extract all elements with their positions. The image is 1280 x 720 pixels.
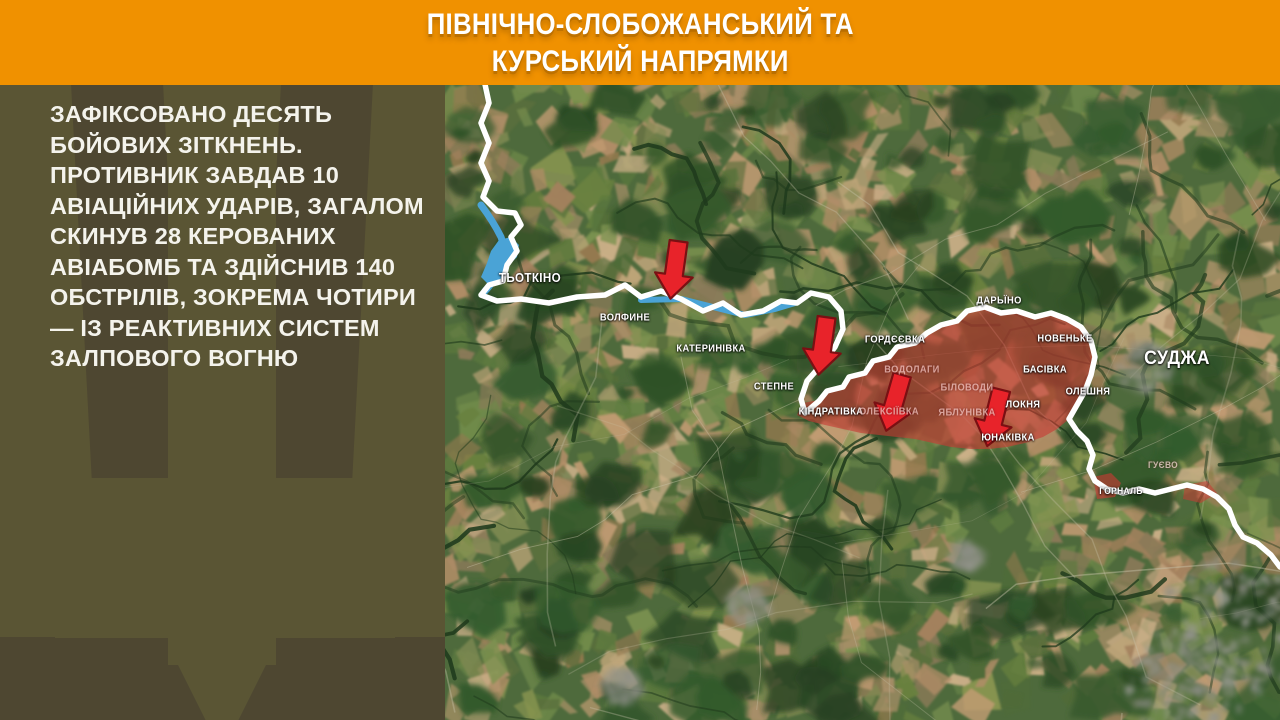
map-label-18: ГОРНАЛЬ <box>1099 486 1142 496</box>
map-label-15: ЯБЛУНІВКА <box>938 408 995 419</box>
trident-notch-right <box>270 478 395 638</box>
map-label-12: ВОДОЛАГИ <box>884 365 939 376</box>
report-panel: ЗАФІКСОВАНО ДЕСЯТЬ БОЙОВИХ ЗІТКНЕНЬ. ПРО… <box>0 85 445 720</box>
map-label-14: ОЛЕКСІЇВКА <box>859 407 919 418</box>
page-title: ПІВНІЧНО-СЛОБОЖАНСЬКИЙ ТА КУРСЬКИЙ НАПРЯ… <box>427 6 854 80</box>
map-label-2: КАТЕРИНІВКА <box>676 344 745 355</box>
arrow-kindrativka <box>800 315 846 378</box>
map-label-10: ЛОКНЯ <box>1006 400 1041 411</box>
header-banner: ПІВНІЧНО-СЛОБОЖАНСЬКИЙ ТА КУРСЬКИЙ НАПРЯ… <box>0 0 1280 85</box>
state-border-line <box>481 85 1280 567</box>
map-label-17: ГУЄВО <box>1148 460 1178 470</box>
map-label-7: НОВЕНЬКЕ <box>1037 334 1092 345</box>
map-label-13: БІЛОВОДИ <box>941 383 994 394</box>
infographic-root: ПІВНІЧНО-СЛОБОЖАНСЬКИЙ ТА КУРСЬКИЙ НАПРЯ… <box>0 0 1280 720</box>
map-label-11: ЮНАКІВКА <box>981 433 1034 444</box>
map-label-3: СТЕПНЕ <box>754 382 794 393</box>
map-label-6: ДАРЬЇНО <box>976 296 1021 307</box>
map-label-9: ОЛЕШНЯ <box>1066 387 1111 398</box>
map-label-16: СУДЖА <box>1144 348 1210 370</box>
trident-notch-left <box>55 478 175 638</box>
map-overlays <box>445 85 1280 720</box>
map-label-8: БАСІВКА <box>1023 365 1067 376</box>
satellite-map[interactable]: ТЬОТКІНОВОЛФИНЕКАТЕРИНІВКАСТЕПНЕКІНДРАТІ… <box>445 85 1280 720</box>
map-label-0: ТЬОТКІНО <box>499 271 561 285</box>
map-label-1: ВОЛФИНЕ <box>600 313 650 324</box>
map-label-4: КІНДРАТІВКА <box>799 407 864 418</box>
map-label-5: ГОРДЄЄВКА <box>865 335 925 346</box>
report-body-text: ЗАФІКСОВАНО ДЕСЯТЬ БОЙОВИХ ЗІТКНЕНЬ. ПРО… <box>50 99 425 374</box>
